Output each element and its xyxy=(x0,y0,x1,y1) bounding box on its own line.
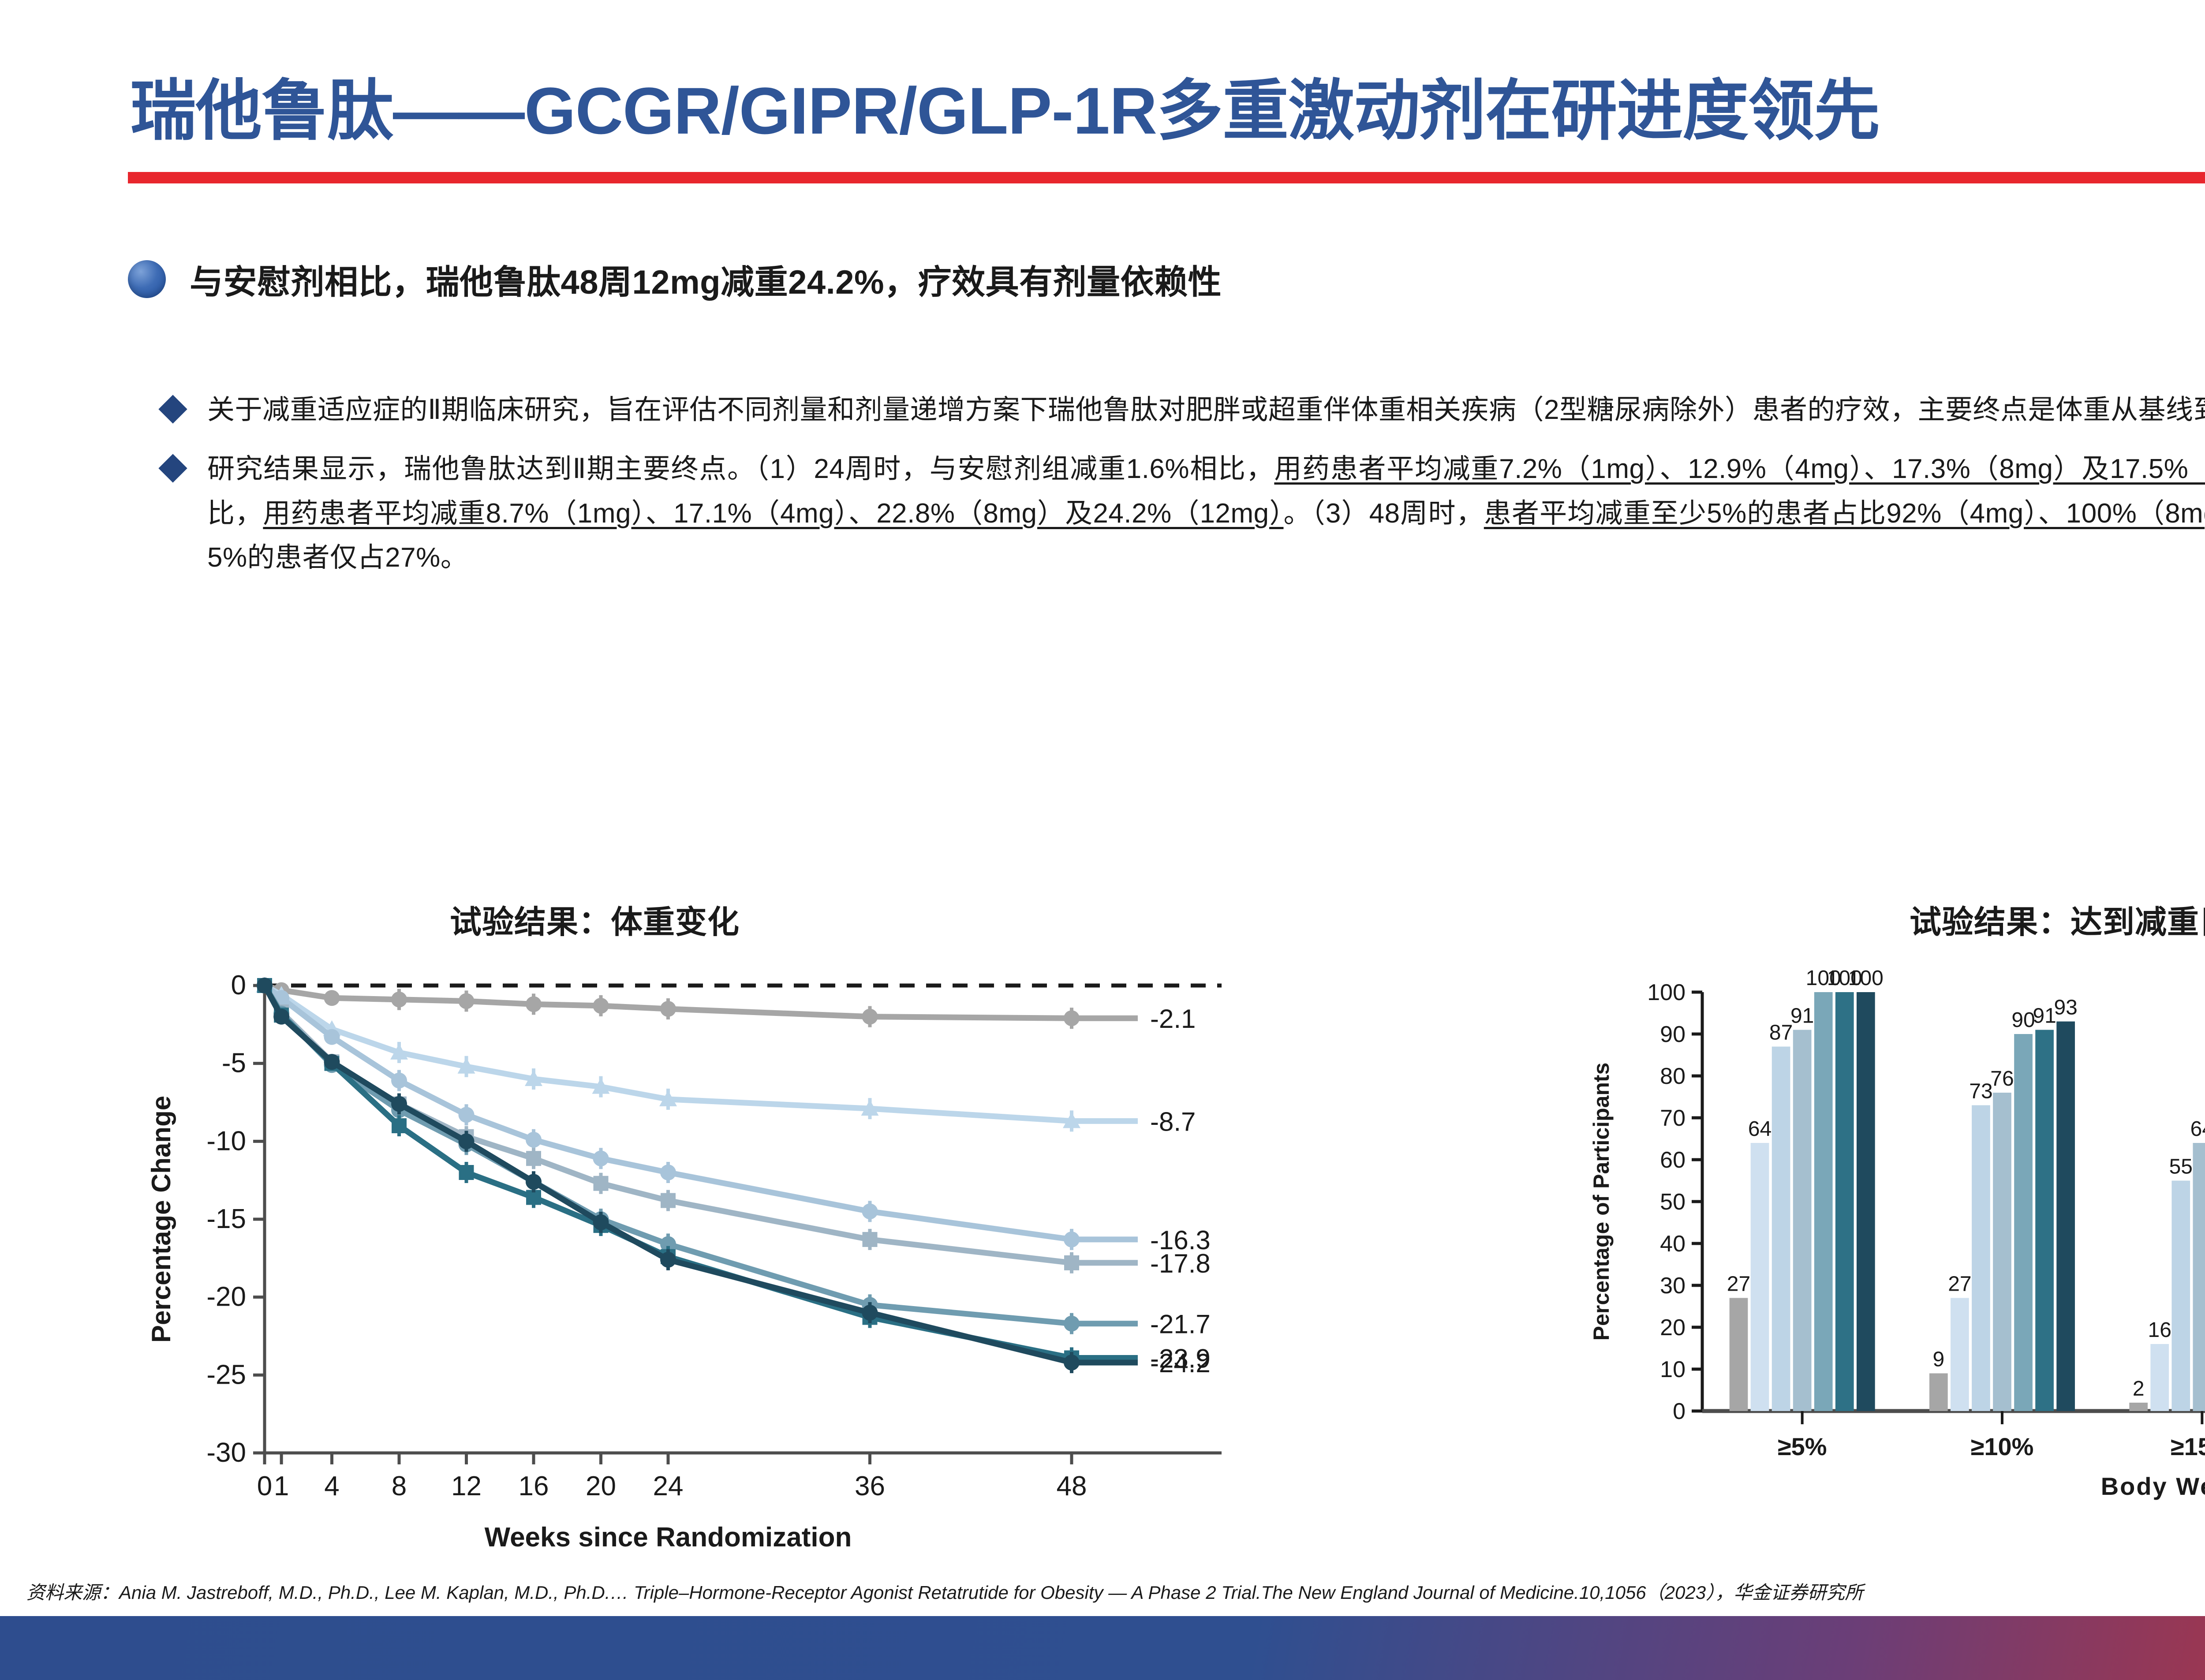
diamond-bullet-icon xyxy=(158,395,187,423)
bar-chart-title: 试验结果：达到减重目标的患者人数 xyxy=(1910,896,2205,942)
svg-text:20: 20 xyxy=(586,1471,616,1501)
svg-text:-20: -20 xyxy=(206,1282,246,1312)
svg-text:12: 12 xyxy=(451,1471,482,1501)
slide-root: 瑞他鲁肽——GCGR/GIPR/GLP-1R多重激动剂在研进度领先 华金证券 H… xyxy=(0,0,2205,1680)
page-title: 瑞他鲁肽——GCGR/GIPR/GLP-1R多重激动剂在研进度领先 xyxy=(130,57,1880,153)
svg-text:50: 50 xyxy=(1660,1189,1686,1215)
svg-text:-25: -25 xyxy=(206,1359,246,1390)
svg-text:90: 90 xyxy=(2011,1008,2035,1032)
section-bullet-icon xyxy=(128,260,166,298)
section-heading: 与安慰剂相比，瑞他鲁肽48周12mg减重24.2%，疗效具有剂量依赖性 xyxy=(128,255,1222,303)
svg-text:-30: -30 xyxy=(206,1437,246,1468)
svg-text:0: 0 xyxy=(257,1471,272,1501)
svg-text:0: 0 xyxy=(1673,1399,1686,1424)
svg-text:0: 0 xyxy=(231,970,246,1001)
svg-text:-15: -15 xyxy=(206,1204,246,1234)
svg-text:10: 10 xyxy=(1660,1357,1686,1382)
svg-text:Percentage of Participants: Percentage of Participants xyxy=(1589,1063,1614,1341)
svg-text:2: 2 xyxy=(2133,1377,2145,1400)
bullet-2-text: 研究结果显示，瑞他鲁肽达到Ⅱ期主要终点。（1）24周时，与安慰剂组减重1.6%相… xyxy=(207,447,2205,580)
source-note: 资料来源：Ania M. Jastreboff, M.D., Ph.D., Le… xyxy=(26,1578,1863,1605)
svg-text:90: 90 xyxy=(1660,1022,1686,1047)
svg-text:8: 8 xyxy=(392,1471,407,1501)
svg-text:91: 91 xyxy=(1790,1004,1814,1028)
svg-text:1: 1 xyxy=(274,1471,289,1501)
footer-bar: 请仔细阅读在本报告尾部的重要法律声明 32 xyxy=(0,1616,2205,1680)
bar-chart-svg: 010203040506070809010027648791100100100≥… xyxy=(1570,957,2205,1530)
svg-text:Percentage Change: Percentage Change xyxy=(146,1096,176,1343)
svg-text:-2.1: -2.1 xyxy=(1150,1004,1196,1034)
svg-text:93: 93 xyxy=(2054,996,2077,1019)
svg-text:9: 9 xyxy=(1932,1348,1944,1371)
svg-text:-8.7: -8.7 xyxy=(1150,1107,1196,1136)
svg-text:-5: -5 xyxy=(222,1048,246,1079)
line-chart-title: 试验结果：体重变化 xyxy=(450,896,740,942)
svg-text:100: 100 xyxy=(1848,967,1884,990)
diamond-bullet-icon xyxy=(158,454,187,483)
svg-text:55: 55 xyxy=(2169,1155,2193,1179)
svg-text:20: 20 xyxy=(1660,1315,1686,1340)
svg-text:24: 24 xyxy=(653,1471,684,1501)
svg-text:73: 73 xyxy=(1969,1080,1992,1103)
svg-text:-24.2: -24.2 xyxy=(1150,1348,1211,1378)
svg-text:91: 91 xyxy=(2033,1004,2056,1028)
svg-text:-21.7: -21.7 xyxy=(1150,1310,1211,1339)
svg-text:≥5%: ≥5% xyxy=(1778,1433,1827,1460)
bullet-item: 关于减重适应症的Ⅱ期临床研究，旨在评估不同剂量和剂量递增方案下瑞他鲁肽对肥胖或超… xyxy=(163,388,2205,432)
header-divider xyxy=(128,172,2205,183)
svg-text:60: 60 xyxy=(1660,1147,1686,1173)
svg-text:Weeks since Randomization: Weeks since Randomization xyxy=(485,1522,852,1553)
svg-text:4: 4 xyxy=(324,1471,339,1501)
body-content: 关于减重适应症的Ⅱ期临床研究，旨在评估不同剂量和剂量递增方案下瑞他鲁肽对肥胖或超… xyxy=(163,388,2205,595)
bullet-1-text: 关于减重适应症的Ⅱ期临床研究，旨在评估不同剂量和剂量递增方案下瑞他鲁肽对肥胖或超… xyxy=(207,388,2205,432)
section-heading-text: 与安慰剂相比，瑞他鲁肽48周12mg减重24.2%，疗效具有剂量依赖性 xyxy=(190,255,1222,303)
svg-text:80: 80 xyxy=(1660,1064,1686,1089)
svg-text:≥10%: ≥10% xyxy=(1971,1433,2034,1460)
svg-text:27: 27 xyxy=(1948,1273,1971,1296)
svg-text:Body Weight–Reduction Target: Body Weight–Reduction Target xyxy=(2101,1472,2205,1500)
svg-text:64: 64 xyxy=(2190,1117,2205,1141)
svg-text:70: 70 xyxy=(1660,1105,1686,1131)
svg-text:-10: -10 xyxy=(206,1126,246,1156)
slide-header: 瑞他鲁肽——GCGR/GIPR/GLP-1R多重激动剂在研进度领先 华金证券 H… xyxy=(0,0,2205,207)
svg-text:-17.8: -17.8 xyxy=(1150,1249,1211,1278)
svg-text:64: 64 xyxy=(1748,1117,1771,1141)
svg-text:16: 16 xyxy=(519,1471,549,1501)
line-chart-svg: 0-5-10-15-20-25-300148121620243648-2.1-8… xyxy=(132,961,1261,1561)
svg-text:87: 87 xyxy=(1769,1021,1793,1045)
svg-text:36: 36 xyxy=(855,1471,885,1501)
svg-text:27: 27 xyxy=(1727,1273,1750,1296)
svg-text:40: 40 xyxy=(1660,1231,1686,1257)
svg-text:76: 76 xyxy=(1990,1067,2014,1090)
bullet-item: 研究结果显示，瑞他鲁肽达到Ⅱ期主要终点。（1）24周时，与安慰剂组减重1.6%相… xyxy=(163,447,2205,580)
svg-text:16: 16 xyxy=(2148,1318,2171,1342)
weight-target-bar-chart: 010203040506070809010027648791100100100≥… xyxy=(1570,957,2205,1530)
svg-text:≥15%: ≥15% xyxy=(2171,1433,2205,1460)
weight-change-line-chart: 0-5-10-15-20-25-300148121620243648-2.1-8… xyxy=(132,961,1261,1561)
svg-text:30: 30 xyxy=(1660,1273,1686,1299)
svg-text:48: 48 xyxy=(1057,1471,1087,1501)
svg-text:100: 100 xyxy=(1647,980,1686,1005)
